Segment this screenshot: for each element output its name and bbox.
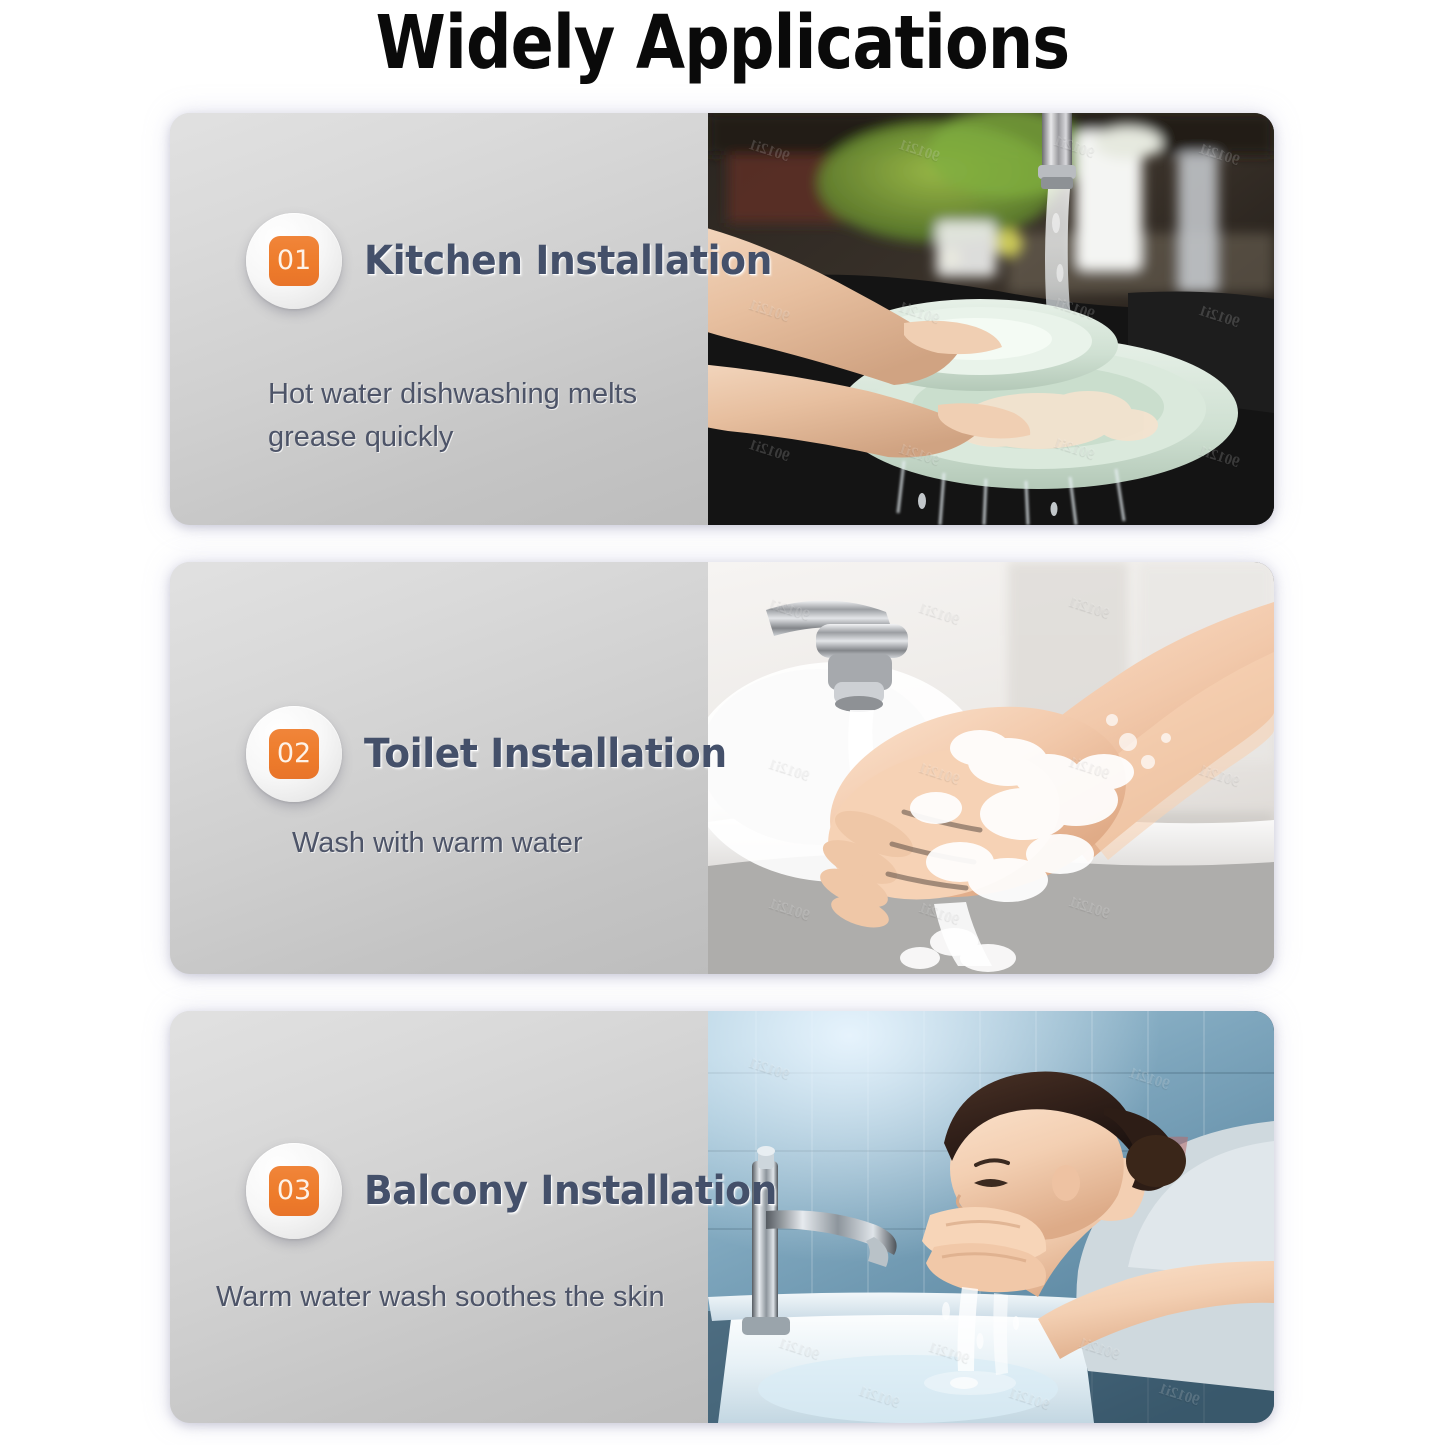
application-card[interactable]: 02 Toilet Installation Wash with warm wa… bbox=[170, 562, 1274, 974]
step-number-badge: 01 bbox=[246, 213, 342, 309]
card-photo-panel: 9012i1 9012i1 9012i1 9012i1 9012i1 9012i… bbox=[708, 562, 1274, 974]
card-header-row: 02 Toilet Installation bbox=[246, 706, 750, 802]
page-title: Widely Applications bbox=[101, 6, 1344, 80]
card-text-panel: 01 Kitchen Installation Hot water dishwa… bbox=[170, 113, 708, 525]
application-card-list: 01 Kitchen Installation Hot water dishwa… bbox=[170, 113, 1274, 1445]
card-title: Kitchen Installation bbox=[364, 238, 772, 284]
facewash-photo-art bbox=[708, 1011, 1274, 1423]
step-number-chip: 01 bbox=[269, 236, 319, 286]
step-number-badge: 03 bbox=[246, 1143, 342, 1239]
step-number-chip: 03 bbox=[269, 1166, 319, 1216]
kitchen-dishwashing-photo bbox=[708, 113, 1274, 525]
card-photo-panel: 9012i1 9012i1 9012i1 9012i1 9012i1 9012i… bbox=[708, 113, 1274, 525]
kitchen-photo-art bbox=[708, 113, 1274, 525]
application-card[interactable]: 01 Kitchen Installation Hot water dishwa… bbox=[170, 113, 1274, 525]
card-text-panel: 02 Toilet Installation Wash with warm wa… bbox=[170, 562, 708, 974]
handwash-photo-art bbox=[708, 562, 1274, 974]
card-title: Toilet Installation bbox=[364, 731, 727, 777]
card-title: Balcony Installation bbox=[364, 1168, 777, 1214]
handwashing-photo bbox=[708, 562, 1274, 974]
card-photo-panel: 9012i1 9012i1 9012i1 9012i1 9012i1 9012i… bbox=[708, 1011, 1274, 1423]
application-card[interactable]: 03 Balcony Installation Warm water wash … bbox=[170, 1011, 1274, 1423]
face-washing-photo bbox=[708, 1011, 1274, 1423]
card-caption: Hot water dishwashing melts grease quick… bbox=[268, 373, 688, 459]
widely-applications-page: Widely Applications 01 Kitchen Installat… bbox=[0, 0, 1445, 1445]
step-number-chip: 02 bbox=[269, 729, 319, 779]
card-caption: Warm water wash soothes the skin bbox=[216, 1276, 716, 1319]
step-number-badge: 02 bbox=[246, 706, 342, 802]
card-caption: Wash with warm water bbox=[292, 822, 722, 865]
card-text-panel: 03 Balcony Installation Warm water wash … bbox=[170, 1011, 708, 1423]
